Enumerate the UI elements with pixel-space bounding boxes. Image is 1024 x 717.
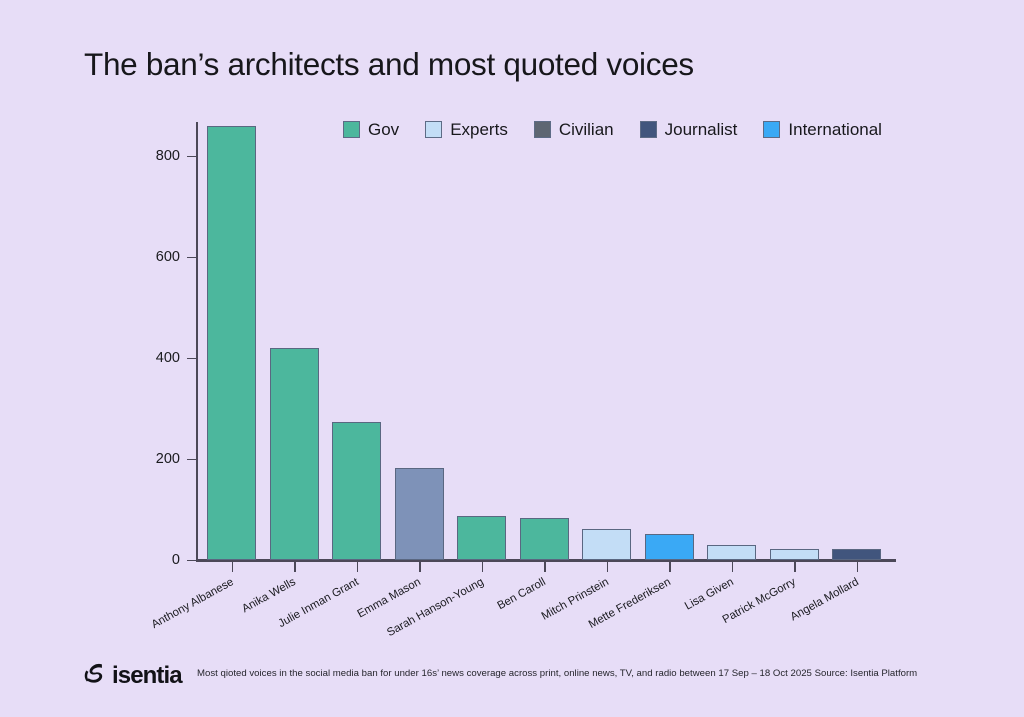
bar[interactable] xyxy=(332,422,381,560)
y-axis-tick-mark xyxy=(187,560,196,562)
chart-card: The ban’s architects and most quoted voi… xyxy=(0,0,1024,717)
bar[interactable] xyxy=(395,468,444,560)
isentia-swirl-icon xyxy=(82,660,109,692)
x-axis-label: Angela Mollard xyxy=(788,576,861,624)
x-axis-label: Lisa Given xyxy=(682,576,735,613)
chart-caption: Most qioted voices in the social media b… xyxy=(197,668,917,679)
x-axis-tick-mark xyxy=(357,561,359,572)
bar[interactable] xyxy=(207,126,256,560)
y-axis-tick-label: 200 xyxy=(156,450,180,468)
bar[interactable] xyxy=(582,529,631,560)
bar-series: Anthony AlbaneseAnika WellsJulie Inman G… xyxy=(196,0,896,560)
x-axis-tick-mark xyxy=(607,561,609,572)
x-axis-tick-mark xyxy=(544,561,546,572)
x-axis-tick-mark xyxy=(794,561,796,572)
bar[interactable] xyxy=(520,518,569,560)
x-axis-tick-mark xyxy=(419,561,421,572)
y-axis-tick-mark xyxy=(187,156,196,158)
x-axis-tick-mark xyxy=(732,561,734,572)
x-axis-tick-mark xyxy=(482,561,484,572)
x-axis-tick-mark xyxy=(857,561,859,572)
bar[interactable] xyxy=(770,549,819,560)
x-axis-label: Ben Caroll xyxy=(495,576,548,613)
y-axis-tick-label: 400 xyxy=(156,349,180,367)
bar[interactable] xyxy=(832,549,881,560)
bar[interactable] xyxy=(707,545,756,560)
bar[interactable] xyxy=(270,348,319,560)
chart-footer: isentia Most qioted voices in the social… xyxy=(0,652,1024,717)
bar[interactable] xyxy=(457,516,506,560)
y-axis-tick-mark xyxy=(187,257,196,259)
x-axis-tick-mark xyxy=(669,561,671,572)
y-axis-tick-label: 0 xyxy=(172,551,180,569)
y-axis-tick-mark xyxy=(187,358,196,360)
y-axis-tick-label: 800 xyxy=(156,147,180,165)
bar[interactable] xyxy=(645,534,694,560)
x-axis-tick-mark xyxy=(232,561,234,572)
isentia-wordmark: isentia xyxy=(112,664,182,688)
x-axis-label: Anika Wells xyxy=(240,576,298,616)
y-axis-tick-mark xyxy=(187,459,196,461)
x-axis-tick-mark xyxy=(294,561,296,572)
y-axis-tick-label: 600 xyxy=(156,248,180,266)
isentia-logo: isentia xyxy=(82,660,182,692)
y-axis: 0200400600800 xyxy=(0,0,196,717)
